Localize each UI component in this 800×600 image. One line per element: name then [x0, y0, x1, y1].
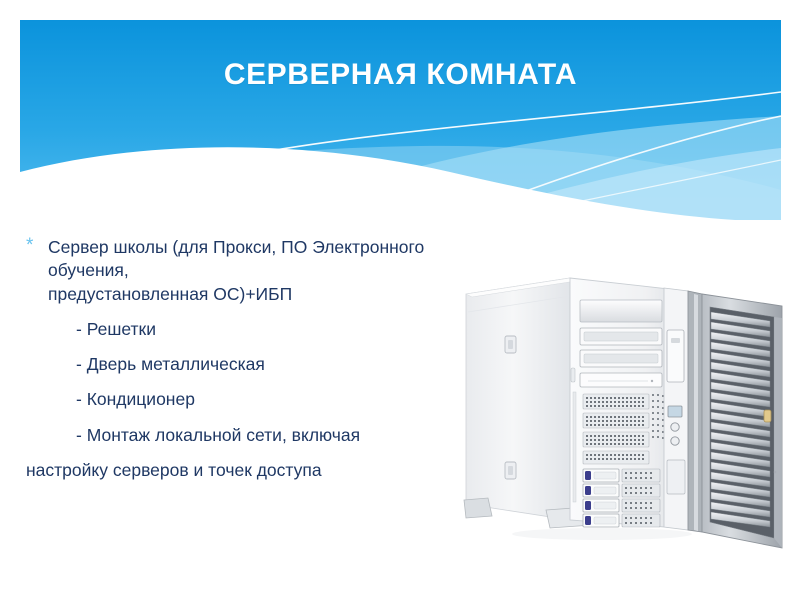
list-item-line: Сервер школы (для Прокси, ПО Электронног… [48, 236, 496, 283]
bezel-tab [571, 368, 575, 382]
lcd-display [668, 406, 682, 417]
slim-drive [667, 330, 684, 382]
list-item: * Сервер школы (для Прокси, ПО Электронн… [26, 236, 496, 306]
vent-grille [583, 394, 649, 409]
drive-latch-handle [585, 486, 591, 495]
optical-bay [580, 350, 662, 367]
body-tail-line: настройку серверов и точек доступа [26, 459, 496, 482]
foot-rear [464, 498, 492, 518]
side-vent-column [573, 392, 576, 502]
drive-latch-handle [585, 471, 591, 480]
side-panel [466, 278, 576, 520]
front-bezel [570, 278, 678, 528]
vent-grille [583, 413, 649, 428]
drive-latch-handle [585, 501, 591, 510]
optical-bay [580, 328, 662, 345]
door-latch [764, 410, 771, 422]
header-banner [20, 20, 781, 220]
power-button [671, 423, 679, 431]
sub-list-item: - Монтаж локальной сети, включая [26, 424, 496, 447]
ground-shadow [512, 528, 692, 540]
vent-grille [583, 451, 649, 464]
control-panel-column [664, 288, 688, 530]
slim-drive-bay [580, 373, 662, 387]
slide-body: * Сервер школы (для Прокси, ПО Электронн… [26, 236, 496, 482]
blank-bay [580, 300, 662, 322]
vent-grille [583, 432, 649, 447]
reset-button [671, 437, 679, 445]
sub-list-item: - Решетки [26, 318, 496, 341]
list-item-line: предустановленная ОС)+ИБП [48, 283, 496, 306]
asterisk-bullet-icon: * [26, 235, 33, 258]
presentation-slide: СЕРВЕРНАЯ КОМНАТА * Сервер школы (для Пр… [0, 0, 800, 600]
drive-latch-handle [585, 516, 591, 525]
server-photo [452, 272, 800, 572]
page-title: СЕРВЕРНАЯ КОМНАТА [20, 58, 781, 91]
door-hinge [688, 291, 702, 532]
sub-list-item: - Кондиционер [26, 388, 496, 411]
louvered-door [702, 294, 782, 548]
sub-list-item: - Дверь металлическая [26, 353, 496, 376]
